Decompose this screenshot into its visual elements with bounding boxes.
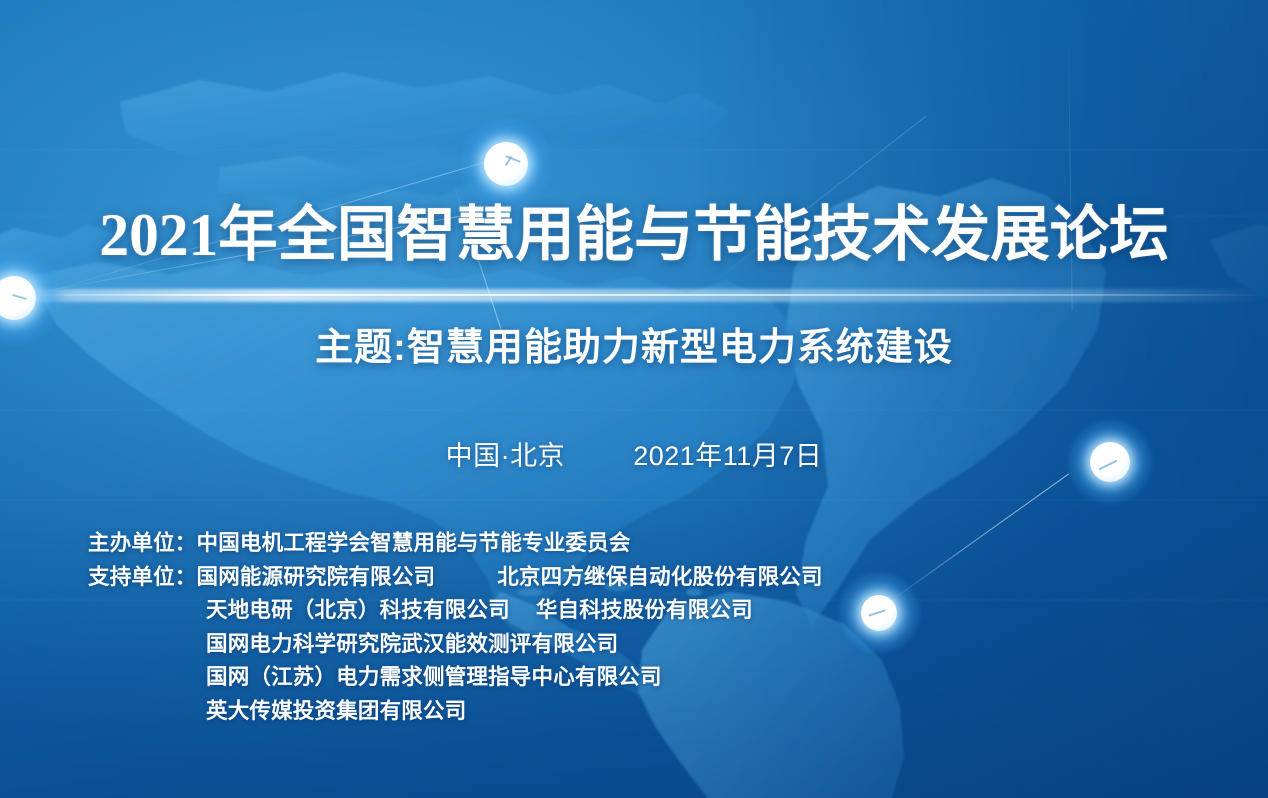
support-row-3: 国网电力科学研究院武汉能效测评有限公司: [88, 628, 823, 662]
host-value: 中国电机工程学会智慧用能与节能专业委员会: [197, 531, 631, 555]
event-date: 2021年11月7日: [633, 441, 822, 471]
organizer-block: 主办单位：中国电机工程学会智慧用能与节能专业委员会 支持单位：国网能源研究院有限…: [88, 527, 823, 728]
light-streak-core: [0, 294, 1268, 296]
support-org-6: 国网（江苏）电力需求侧管理指导中心有限公司: [206, 665, 662, 689]
page-title: 2021年全国智慧用能与节能技术发展论坛: [6, 198, 1261, 272]
support-row-5: 英大传媒投资集团有限公司: [88, 695, 823, 729]
poster-subtitle: 主题:智慧用能助力新型电力系统建设: [0, 322, 1268, 374]
support-row-2: 天地电研（北京）科技有限公司华自科技股份有限公司: [88, 594, 823, 628]
support-org-2: 北京四方继保自动化股份有限公司: [497, 561, 823, 595]
support-row-4: 国网（江苏）电力需求侧管理指导中心有限公司: [88, 661, 823, 695]
map-node-south-america: [838, 572, 920, 654]
event-location: 中国·北京: [446, 441, 566, 471]
support-org-4: 华自科技股份有限公司: [536, 594, 753, 628]
event-meta: 中国·北京 2021年11月7日: [0, 437, 1268, 475]
host-label: 主办单位：: [88, 527, 197, 561]
map-node-upper-center: [460, 118, 552, 210]
support-row-1: 支持单位：国网能源研究院有限公司北京四方继保自动化股份有限公司: [88, 561, 823, 595]
support-org-7: 英大传媒投资集团有限公司: [206, 699, 466, 723]
conference-poster: 2021年全国智慧用能与节能技术发展论坛 主题:智慧用能助力新型电力系统建设 中…: [0, 0, 1268, 798]
support-org-3: 天地电研（北京）科技有限公司: [206, 598, 510, 622]
support-label: 支持单位：: [88, 561, 197, 595]
host-row: 主办单位：中国电机工程学会智慧用能与节能专业委员会: [88, 527, 823, 561]
support-org-1: 国网能源研究院有限公司: [197, 565, 436, 589]
support-org-5: 国网电力科学研究院武汉能效测评有限公司: [206, 632, 618, 656]
